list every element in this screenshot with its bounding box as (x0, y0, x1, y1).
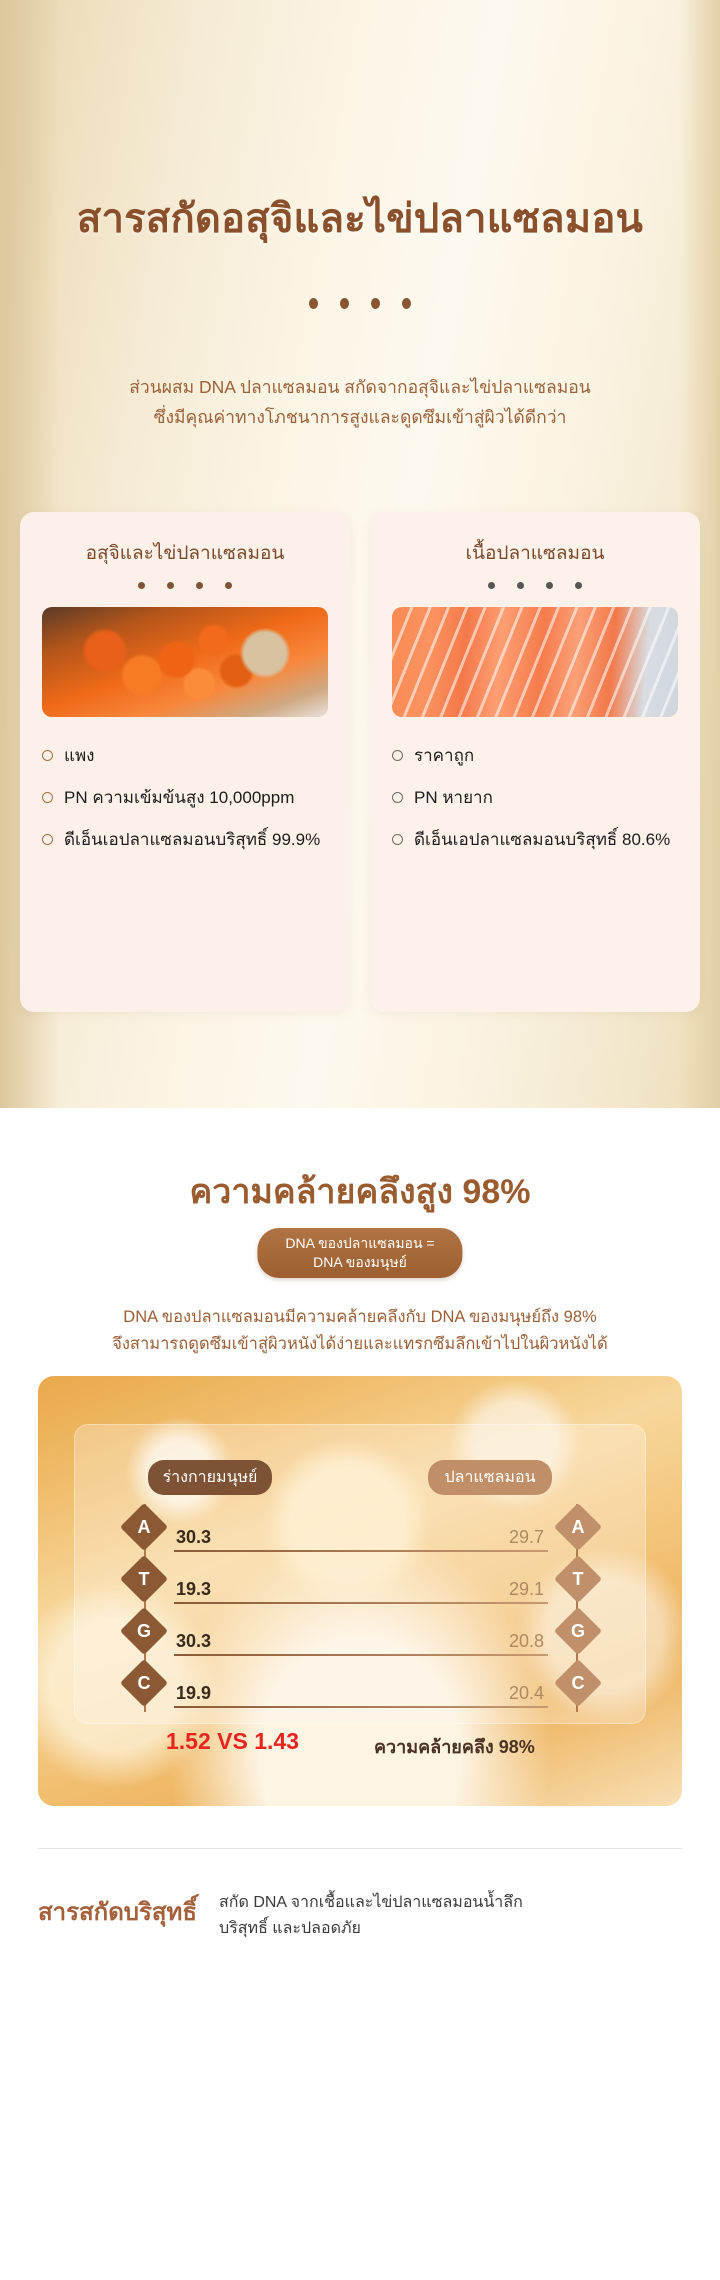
list-item: PN ความเข้มข้นสูง 10,000ppm (42, 785, 324, 810)
dna-row-t: T 19.3 29.1 T (144, 1556, 578, 1608)
base-marker-salmon-t: T (554, 1555, 602, 1603)
dot-icon (138, 582, 145, 589)
badge-line-1: DNA ของปลาแซลมอน = (285, 1234, 434, 1253)
footer-body: สกัด DNA จากเชื้อและไข่ปลาแซลมอนน้ำลึก บ… (219, 1890, 523, 1942)
list-item: ดีเอ็นเอปลาแซลมอนบริสุทธิ์ 99.9% (42, 827, 324, 852)
value-human-g: 30.3 (176, 1631, 211, 1652)
value-salmon-g: 20.8 (509, 1631, 544, 1652)
column-header-human: ร่างกายมนุษย์ (148, 1460, 272, 1495)
page-title: สารสกัดอสุจิและไข่ปลาแซลมอน (0, 186, 720, 250)
card-decorative-dots (370, 582, 700, 589)
footer-body-line-1: สกัด DNA จากเชื้อและไข่ปลาแซลมอนน้ำลึก (219, 1890, 523, 1916)
list-item-label: PN ความเข้มข้นสูง 10,000ppm (64, 785, 294, 810)
row-divider (174, 1654, 548, 1657)
base-marker-salmon-c: C (554, 1659, 602, 1707)
value-salmon-a: 29.7 (509, 1527, 544, 1548)
circle-bullet-icon (42, 750, 53, 761)
similarity-annotation: ความคล้ายคลึง 98% (374, 1732, 535, 1761)
dot-icon (517, 582, 524, 589)
similarity-section: ความคล้ายคลึงสูง 98% DNA ของปลาแซลมอน = … (0, 1108, 720, 2178)
circle-bullet-icon (392, 750, 403, 761)
dot-icon (225, 582, 232, 589)
base-marker-human-t: T (120, 1555, 168, 1603)
column-header-salmon: ปลาแซลมอน (428, 1460, 552, 1495)
card-bullet-list-fillet: ราคาถูก PN หายาก ดีเอ็นเอปลาแซลมอนบริสุท… (392, 743, 674, 852)
value-human-c: 19.9 (176, 1683, 211, 1704)
footer-block: สารสกัดบริสุทธิ์ สกัด DNA จากเชื้อและไข่… (38, 1890, 682, 1942)
value-human-a: 30.3 (176, 1527, 211, 1548)
value-salmon-c: 20.4 (509, 1683, 544, 1704)
circle-bullet-icon (392, 792, 403, 803)
dot-icon (167, 582, 174, 589)
hero-description-line-2: ซึ่งมีคุณค่าทางโภชนาการสูงและดูดซึมเข้าส… (0, 402, 720, 432)
base-marker-human-a: A (120, 1503, 168, 1551)
salmon-fillet-photo (392, 607, 678, 717)
dot-icon (371, 298, 380, 309)
value-human-t: 19.3 (176, 1579, 211, 1600)
base-marker-salmon-a: A (554, 1503, 602, 1551)
base-label: C (561, 1666, 595, 1700)
dna-equation-badge: DNA ของปลาแซลมอน = DNA ของมนุษย์ (257, 1228, 462, 1278)
dot-icon (488, 582, 495, 589)
circle-bullet-icon (42, 834, 53, 845)
value-salmon-t: 29.1 (509, 1579, 544, 1600)
dot-icon (196, 582, 203, 589)
card-title-fillet: เนื้อปลาแซลมอน (370, 538, 700, 568)
decorative-dots (0, 298, 720, 309)
circle-bullet-icon (42, 792, 53, 803)
base-label: T (127, 1562, 161, 1596)
base-label: T (561, 1562, 595, 1596)
card-decorative-dots (20, 582, 350, 589)
list-item: แพง (42, 743, 324, 768)
footer-divider (38, 1848, 682, 1849)
list-item-label: ราคาถูก (414, 743, 474, 768)
comparison-cards: อสุจิและไข่ปลาแซลมอน แพง PN ความเข้มข้นส… (20, 512, 700, 1012)
section-title-similarity: ความคล้ายคลึงสูง 98% (0, 1164, 720, 1218)
dot-icon (402, 298, 411, 309)
hero-description-line-1: ส่วนผสม DNA ปลาแซลมอน สกัดจากอสุจิและไข่… (0, 372, 720, 402)
list-item-label: ดีเอ็นเอปลาแซลมอนบริสุทธิ์ 80.6% (414, 827, 670, 852)
list-item: ราคาถูก (392, 743, 674, 768)
base-label: G (561, 1614, 595, 1648)
base-marker-salmon-g: G (554, 1607, 602, 1655)
footer-title: สารสกัดบริสุทธิ์ (38, 1890, 197, 1931)
dna-row-a: A 30.3 29.7 A (144, 1504, 578, 1556)
ratio-annotation: 1.52 VS 1.43 (166, 1728, 299, 1755)
list-item-label: PN หายาก (414, 785, 493, 810)
base-label: A (561, 1510, 595, 1544)
list-item-label: แพง (64, 743, 94, 768)
badge-line-2: DNA ของมนุษย์ (285, 1253, 434, 1272)
footer-body-line-2: บริสุทธิ์ และปลอดภัย (219, 1916, 523, 1942)
circle-bullet-icon (392, 834, 403, 845)
comparison-card-fillet: เนื้อปลาแซลมอน ราคาถูก PN หายาก (370, 512, 700, 1012)
dna-row-g: G 30.3 20.8 G (144, 1608, 578, 1660)
hero-section: สารสกัดอสุจิและไข่ปลาแซลมอน ส่วนผสม DNA … (0, 0, 720, 1108)
base-marker-human-c: C (120, 1659, 168, 1707)
list-item: PN หายาก (392, 785, 674, 810)
dot-icon (309, 298, 318, 309)
dot-icon (575, 582, 582, 589)
similarity-description-line-1: DNA ของปลาแซลมอนมีความคล้ายคลึงกับ DNA ข… (0, 1304, 720, 1331)
dot-icon (340, 298, 349, 309)
hero-description: ส่วนผสม DNA ปลาแซลมอน สกัดจากอสุจิและไข่… (0, 372, 720, 432)
base-label: A (127, 1510, 161, 1544)
row-divider (174, 1550, 548, 1553)
similarity-description-line-2: จึงสามารถดูดซึมเข้าสู่ผิวหนังได้ง่ายและแ… (0, 1331, 720, 1358)
row-divider (174, 1706, 548, 1709)
list-item: ดีเอ็นเอปลาแซลมอนบริสุทธิ์ 80.6% (392, 827, 674, 852)
card-title-roe: อสุจิและไข่ปลาแซลมอน (20, 538, 350, 568)
comparison-card-roe: อสุจิและไข่ปลาแซลมอน แพง PN ความเข้มข้นส… (20, 512, 350, 1012)
base-label: G (127, 1614, 161, 1648)
dot-icon (546, 582, 553, 589)
similarity-description: DNA ของปลาแซลมอนมีความคล้ายคลึงกับ DNA ข… (0, 1304, 720, 1358)
list-item-label: ดีเอ็นเอปลาแซลมอนบริสุทธิ์ 99.9% (64, 827, 320, 852)
base-marker-human-g: G (120, 1607, 168, 1655)
row-divider (174, 1602, 548, 1605)
base-label: C (127, 1666, 161, 1700)
card-bullet-list-roe: แพง PN ความเข้มข้นสูง 10,000ppm ดีเอ็นเอ… (42, 743, 324, 852)
salmon-roe-photo (42, 607, 328, 717)
dna-comparison-panel: ร่างกายมนุษย์ ปลาแซลมอน A 30.3 29.7 A T … (38, 1376, 682, 1806)
dna-row-c: C 19.9 20.4 C (144, 1660, 578, 1712)
